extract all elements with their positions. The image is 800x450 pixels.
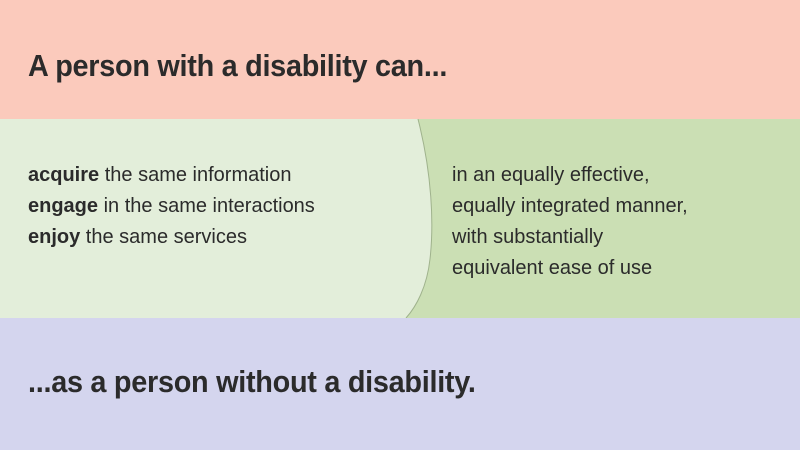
bottom-banner: ...as a person without a disability. xyxy=(0,318,800,450)
list-item: engage in the same interactions xyxy=(28,191,418,222)
list-item-rest: the same services xyxy=(80,226,247,248)
clause-line: equally integrated manner, xyxy=(452,191,782,222)
list-item: enjoy the same services xyxy=(28,222,418,253)
list-item-rest: the same information xyxy=(99,164,291,186)
list-item-verb: enjoy xyxy=(28,226,80,248)
list-item-verb: engage xyxy=(28,195,98,217)
capability-list: acquire the same information engage in t… xyxy=(28,160,418,253)
clause-line: in an equally effective, xyxy=(452,160,782,191)
clause-line: equivalent ease of use xyxy=(452,253,782,284)
qualifier-clause: in an equally effective, equally integra… xyxy=(452,160,782,284)
page-conclusion: ...as a person without a disability. xyxy=(28,366,476,397)
page-title: A person with a disability can... xyxy=(28,50,447,81)
top-banner: A person with a disability can... xyxy=(0,0,800,119)
clause-line: with substantially xyxy=(452,222,782,253)
list-item-rest: in the same interactions xyxy=(98,195,315,217)
middle-section: acquire the same information engage in t… xyxy=(0,119,800,318)
list-item: acquire the same information xyxy=(28,160,418,191)
slide-canvas: A person with a disability can... acquir… xyxy=(0,0,800,450)
list-item-verb: acquire xyxy=(28,164,99,186)
